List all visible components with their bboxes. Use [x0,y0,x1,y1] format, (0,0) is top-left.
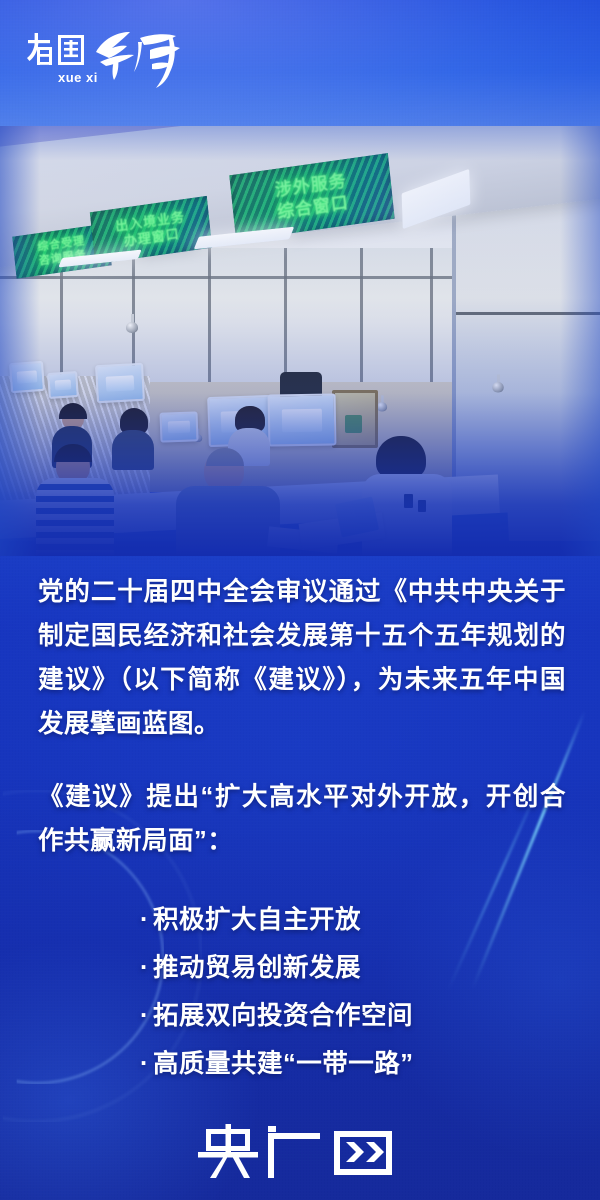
bullet-marker-icon: · [140,906,149,934]
bullet-item-3: ·拓展双向投资合作空间 [140,992,540,1040]
bullet-item-2: ·推动贸易创新发展 [140,944,540,992]
paragraph-one: 党的二十届四中全会审议通过《中共中央关于制定国民经济和社会发展第十五个五年规划的… [38,570,566,746]
bullet-item-1-label: 积极扩大自主开放 [153,906,361,934]
source-logo-glyphs: 央广网 [194,1122,406,1178]
bullet-item-1: ·积极扩大自主开放 [140,896,540,944]
bullet-marker-icon: · [140,1050,149,1078]
bullet-item-4-label: 高质量共建“一带一路” [153,1050,414,1078]
paragraph-two: 《建议》提出“扩大高水平对外开放，开创合作共赢新局面”： [38,775,566,863]
bullet-list: ·积极扩大自主开放 ·推动贸易创新发展 ·拓展双向投资合作空间 ·高质量共建“一… [140,896,540,1088]
poster-root: 综合受理 咨询服务 出入境业务 办理窗口 涉外服务 综合窗口 [0,0,600,1200]
bullet-item-2-label: 推动贸易创新发展 [153,954,361,982]
bullet-item-4: ·高质量共建“一带一路” [140,1040,540,1088]
bullet-marker-icon: · [140,954,149,982]
bullet-marker-icon: · [140,1002,149,1030]
content-layer: 党的二十届四中全会审议通过《中共中央关于制定国民经济和社会发展第十五个五年规划的… [0,0,600,1200]
source-logo: 央广网 [0,1122,600,1183]
bullet-item-3-label: 拓展双向投资合作空间 [153,1002,413,1030]
